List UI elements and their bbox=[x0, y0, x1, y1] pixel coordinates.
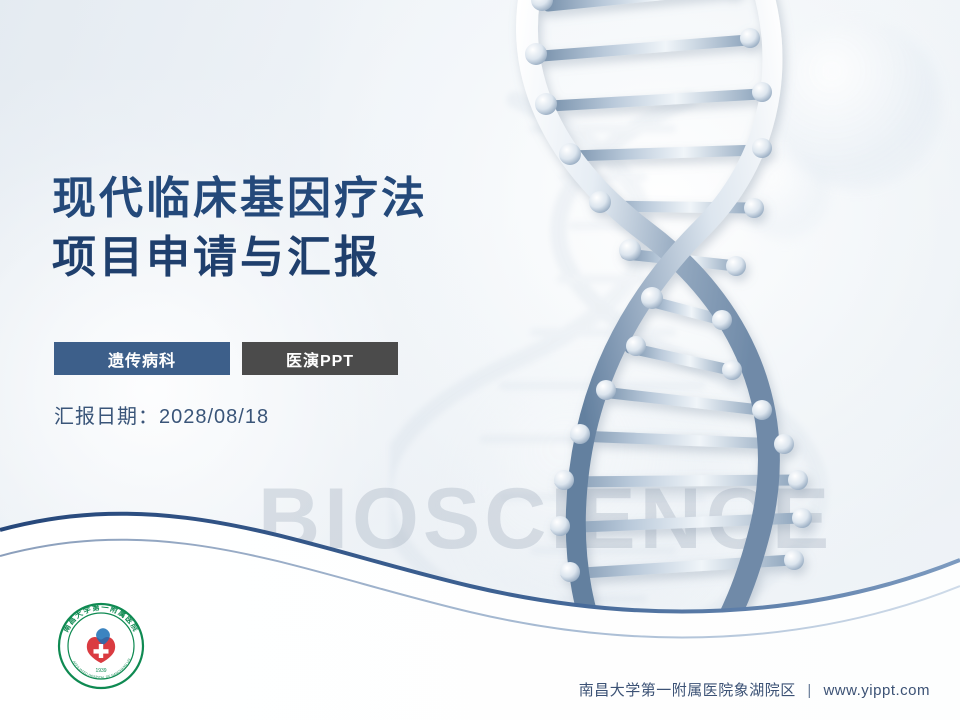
report-date-label: 汇报日期：2028/08/18 bbox=[54, 400, 269, 429]
footer-separator: | bbox=[807, 682, 811, 699]
bokeh-circle-icon bbox=[772, 20, 942, 190]
dna-helix-icon bbox=[430, 0, 960, 630]
tag-row: 遗传病科 医演PPT bbox=[54, 342, 398, 375]
footer-organization: 南昌大学第一附属医院象湖院区 bbox=[579, 682, 796, 699]
bokeh-circle-icon bbox=[470, 370, 730, 630]
footer-credit: 南昌大学第一附属医院象湖院区 | www.yippt.com bbox=[579, 679, 930, 700]
bokeh-circle-icon bbox=[740, 150, 830, 240]
department-tag: 遗传病科 bbox=[54, 342, 230, 375]
background-glow-right bbox=[320, 0, 960, 620]
svg-text:1939: 1939 bbox=[95, 668, 106, 674]
page-title-line-2: 项目申请与汇报 bbox=[52, 229, 522, 288]
watermark-text: BIOSCIENCE bbox=[258, 470, 833, 569]
presentation-slide: BIOSCIENCE bbox=[0, 0, 960, 720]
footer-website: www.yippt.com bbox=[823, 682, 930, 699]
page-title-line-1: 现代临床基因疗法 bbox=[52, 170, 522, 229]
brand-tag: 医演PPT bbox=[242, 342, 398, 375]
slide-title-block: 现代临床基因疗法 项目申请与汇报 bbox=[52, 170, 522, 288]
hospital-logo: 南昌大学第一附属医院 THE FIRST AFFILIATED HOSPITAL… bbox=[42, 596, 160, 692]
